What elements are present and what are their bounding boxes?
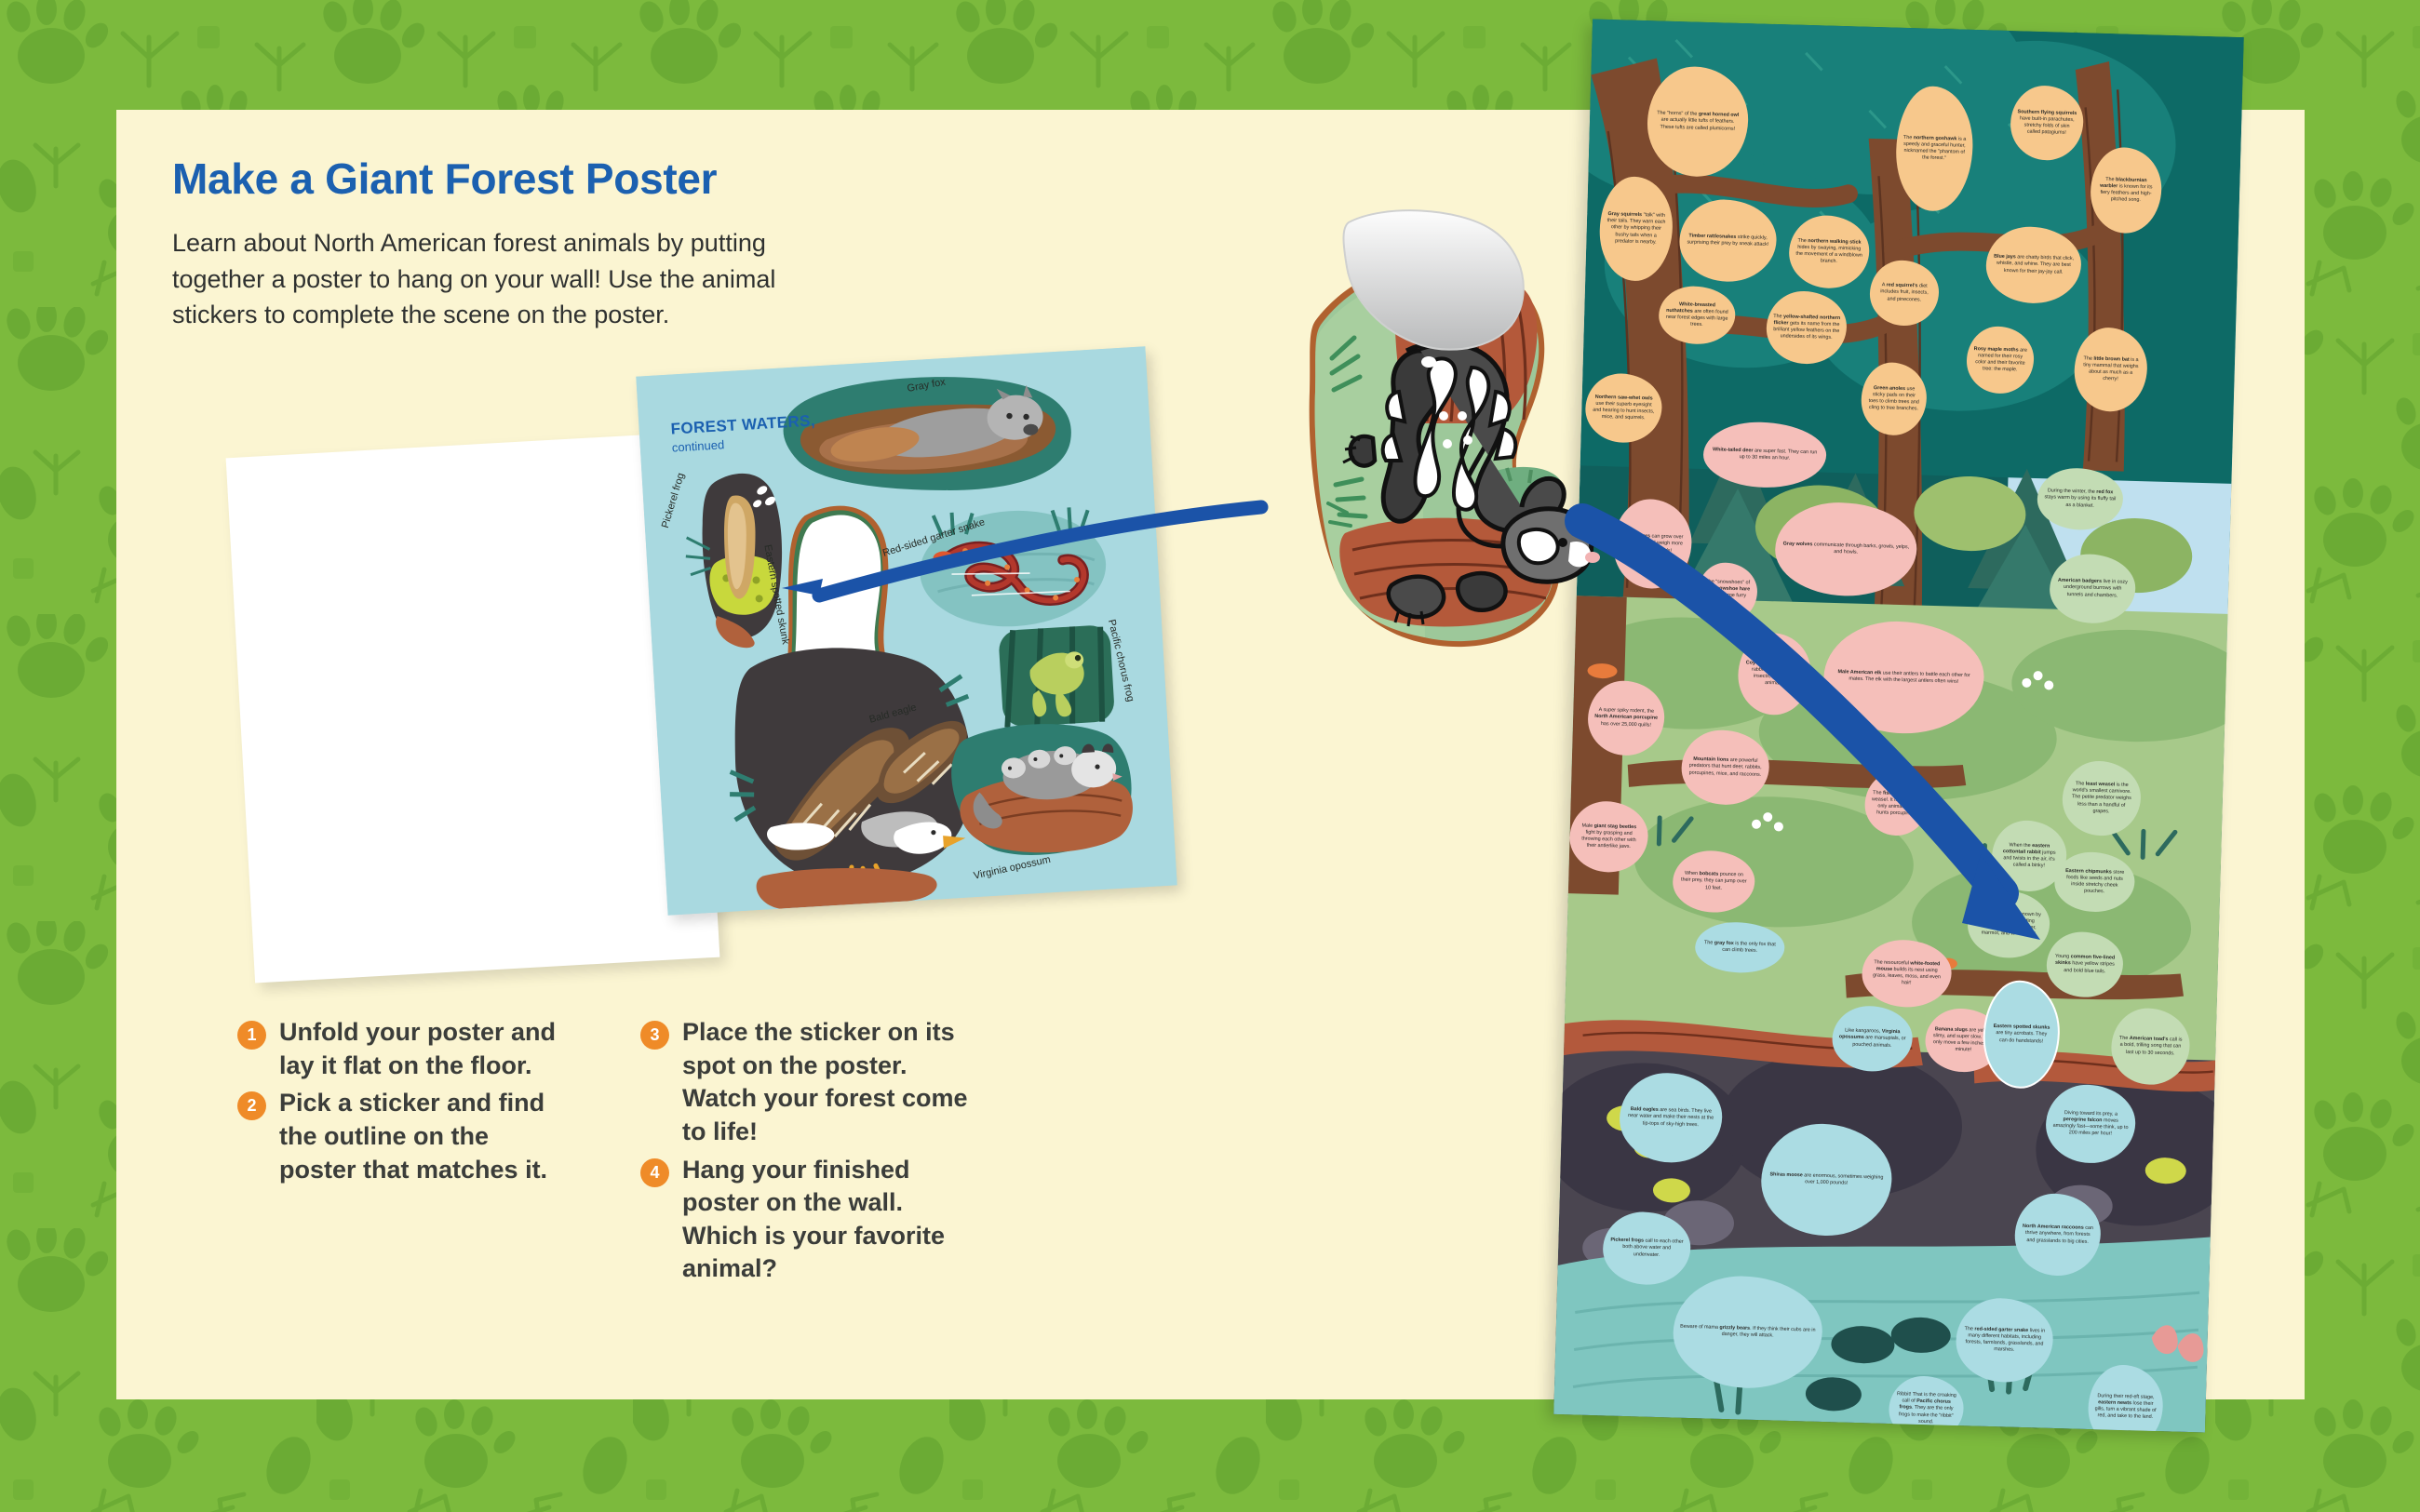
step-item: 4 Hang your finished poster on the wall.… bbox=[640, 1154, 971, 1287]
step-number-badge: 2 bbox=[237, 1091, 266, 1120]
step-text: Pick a sticker and find the outline on t… bbox=[279, 1087, 568, 1186]
peeled-skunk-sticker[interactable] bbox=[1243, 209, 1633, 740]
intro-paragraph: Learn about North American forest animal… bbox=[172, 225, 805, 332]
page-title: Make a Giant Forest Poster bbox=[172, 156, 898, 201]
step-item: 2 Pick a sticker and find the outline on… bbox=[237, 1087, 568, 1186]
sticker-pacific-chorus-frog bbox=[998, 624, 1115, 728]
step-text: Place the sticker on its spot on the pos… bbox=[682, 1016, 971, 1149]
sticker-virginia-opossum bbox=[948, 718, 1135, 860]
step-text: Unfold your poster and lay it flat on th… bbox=[279, 1016, 568, 1082]
headline-block: Make a Giant Forest Poster Learn about N… bbox=[172, 156, 898, 332]
sticker-sheet[interactable]: FOREST WATERS, continued Gray fox Picker… bbox=[636, 346, 1176, 915]
step-item: 3 Place the sticker on its spot on the p… bbox=[640, 1016, 971, 1149]
step-column-left: 1 Unfold your poster and lay it flat on … bbox=[237, 1016, 568, 1186]
step-text: Hang your finished poster on the wall. W… bbox=[682, 1154, 971, 1287]
forest-poster[interactable]: The "horns" of the great horned owl are … bbox=[1553, 20, 2244, 1433]
step-item: 1 Unfold your poster and lay it flat on … bbox=[237, 1016, 568, 1082]
step-column-right: 3 Place the sticker on its spot on the p… bbox=[640, 1016, 971, 1286]
step-number-badge: 4 bbox=[640, 1158, 669, 1187]
step-number-badge: 1 bbox=[237, 1021, 266, 1050]
step-number-badge: 3 bbox=[640, 1021, 669, 1050]
instruction-steps: 1 Unfold your poster and lay it flat on … bbox=[237, 1016, 971, 1286]
